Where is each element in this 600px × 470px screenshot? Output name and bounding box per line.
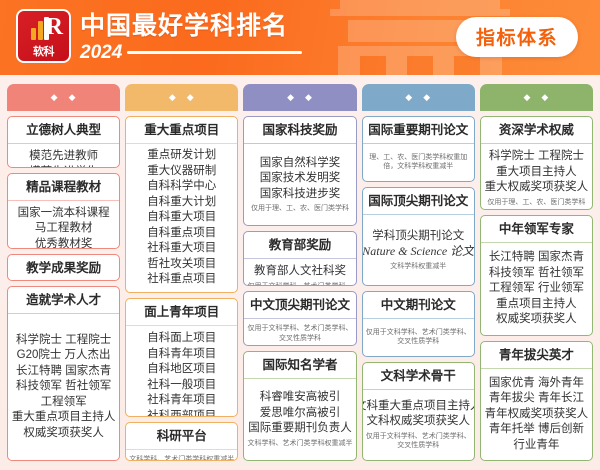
logo-mark-box: R 软科 — [16, 9, 71, 63]
diamond-icon: ◆ — [541, 92, 549, 102]
indicator-group-header: 中文顶尖期刊论文 — [244, 292, 355, 319]
indicator-item: 模范先进学生 — [29, 165, 98, 168]
indicator-group[interactable]: 面上青年项目自科面上项目自科青年项目自科地区项目社科一般项目社科青年项目社科西部… — [125, 298, 238, 417]
indicator-item: 社科西部项目 — [147, 409, 216, 417]
diamond-icon: ◆ — [305, 92, 313, 102]
indicator-group-body: 自科面上项目自科青年项目自科地区项目社科一般项目社科青年项目社科西部项目 — [126, 326, 237, 417]
indicator-item: 社科重点项目 — [147, 272, 216, 288]
title-subline: 2024 — [80, 43, 302, 63]
indicator-group-body: 长江特聘 国家杰青科技领军 哲社领军工程领军 行业领军重点项目主持人权威奖项获奖… — [481, 243, 592, 334]
indicator-group[interactable]: 立德树人典型模范先进教师模范先进学生 — [7, 116, 120, 168]
indicator-group-header: 中文期刊论文 — [363, 292, 474, 319]
indicator-item: 青年拔尖 青年长江 — [489, 391, 584, 407]
indicator-item: 自科重点项目 — [147, 226, 216, 242]
indicator-item: 自科青年项目 — [147, 347, 216, 363]
indicator-item: 长江特聘 国家杰青 — [489, 250, 584, 266]
indicator-item: 青年权威奖项获奖人 — [485, 407, 589, 423]
indicator-item: 教育部人文社科奖 — [254, 264, 346, 280]
diamond-icon: ◆ — [69, 92, 77, 102]
indicator-group[interactable]: 中文期刊论文仅用于文科学科、艺术门类学科、交叉性质学科 — [362, 291, 475, 357]
indicator-group[interactable]: 资深学术权威科学院士 工程院士重大项目主持人重大权威奖项获奖人仅用于理、工、农、… — [480, 116, 593, 210]
indicator-item: 爱思唯尔高被引 — [260, 406, 341, 422]
indicator-item: 自科科学中心 — [147, 179, 216, 195]
indicator-group[interactable]: 精品课程教材国家一流本科课程马工程教材优秀教材奖 — [7, 173, 120, 249]
indicator-item: 自科面上项目 — [147, 331, 216, 347]
indicator-item: 自科重大项目 — [147, 210, 216, 226]
indicator-item: G20院士 万人杰出 — [17, 348, 111, 364]
indicator-group-header: 重大重点项目 — [126, 117, 237, 144]
indicator-item: 重大权威奖项获奖人 — [485, 180, 589, 196]
diamond-icon: ◆ — [287, 92, 295, 102]
indicator-group-body: 模范先进教师模范先进学生 — [8, 144, 119, 168]
indicator-item: 行业青年 — [513, 438, 559, 454]
indicator-footnote: 文科学科、艺术门类学科权重减半 — [247, 439, 354, 449]
indicator-item: 马工程教材 — [35, 221, 93, 237]
indicator-item: 社科一般项目 — [147, 378, 216, 394]
column-title-platform-projects[interactable]: ◆◆ — [125, 84, 238, 111]
indicator-footnote: 文科学科、艺术门类学科权重减半 — [129, 455, 234, 461]
indicator-group-header: 教学成果奖励 — [8, 255, 119, 281]
indicator-group-header: 精品课程教材 — [8, 174, 119, 201]
indicator-item: 国家优青 海外青年 — [489, 376, 584, 392]
indicator-item: 社科重大项目 — [147, 241, 216, 257]
diamond-icon: ◆ — [405, 92, 413, 102]
indicator-item: 工程领军 行业领军 — [489, 281, 584, 297]
indicator-group[interactable]: 国际知名学者科睿唯安高被引爱思唯尔高被引国际重要期刊负责人文科学科、艺术门类学科… — [243, 351, 356, 461]
indicator-group-header: 国家科技奖励 — [244, 117, 355, 144]
column-top-talent: ◆◆资深学术权威科学院士 工程院士重大项目主持人重大权威奖项获奖人仅用于理、工、… — [480, 84, 593, 461]
indicator-item: 科学院士 工程院士 — [16, 333, 111, 349]
diamond-icon: ◆ — [187, 92, 195, 102]
indicator-group[interactable]: 教学成果奖励国家级教学成果奖 — [7, 254, 120, 281]
indicator-group-body: 重点研发计划重大仪器研制自科科学中心自科重大计划自科重大项目自科重点项目社科重大… — [126, 144, 237, 292]
title-block: 中国最好学科排名 2024 — [80, 10, 302, 63]
indicator-item: 重大重点项目主持人 — [12, 410, 116, 426]
indicator-group-header: 教育部奖励 — [244, 232, 355, 259]
indicator-group-header: 国际知名学者 — [244, 352, 355, 379]
indicator-group-body: 科睿唯安高被引爱思唯尔高被引国际重要期刊负责人文科学科、艺术门类学科权重减半 — [244, 379, 355, 460]
page-header: R 软科 中国最好学科排名 2024 指标体系 — [0, 0, 600, 75]
indicator-board: ◆◆立德树人典型模范先进教师模范先进学生精品课程教材国家一流本科课程马工程教材优… — [0, 75, 600, 470]
indicator-group-header: 中年领军专家 — [481, 216, 592, 243]
indicator-group-header: 国际重要期刊论文 — [363, 117, 474, 144]
indicator-group[interactable]: 青年拔尖英才国家优青 海外青年青年拔尖 青年长江青年权威奖项获奖人青年托举 博后… — [480, 341, 593, 461]
indicator-footnote: 仅用于文科学科、艺术门类学科、交叉性质学科 — [365, 328, 472, 347]
title-rule — [127, 51, 302, 55]
indicator-group-body: 仅用于文科学科、艺术门类学科、交叉性质学科 — [363, 319, 474, 356]
column-title-top-talent[interactable]: ◆◆ — [480, 84, 593, 111]
indicator-group-header: 资深学术权威 — [481, 117, 592, 144]
indicator-group-body: 国家一流本科课程马工程教材优秀教材奖 — [8, 201, 119, 249]
indicator-group[interactable]: 国际顶尖期刊论文学科顶尖期刊论文Nature & Science 论文文科学科权… — [362, 187, 475, 286]
indicator-group[interactable]: 国家科技奖励国家自然科学奖国家技术发明奖国家科技进步奖仅用于理、工、农、医门类学… — [243, 116, 356, 226]
indicator-item: 学科顶尖期刊论文 — [372, 229, 464, 245]
indicator-group-body: 理、工、农、医门类学科权重加倍，文科学科权重减半 — [363, 144, 474, 181]
indicator-group[interactable]: 科研平台文科学科、艺术门类学科权重减半 — [125, 422, 238, 461]
indicator-group[interactable]: 造就学术人才科学院士 工程院士G20院士 万人杰出长江特聘 国家杰青科技领军 哲… — [7, 286, 120, 461]
indicator-item: 重点研发计划 — [147, 148, 216, 164]
indicator-footnote: 仅用于文科学科、艺术门类学科、交叉性质学科 — [365, 432, 472, 451]
indicator-item: 自科地区项目 — [147, 362, 216, 378]
indicator-footnote: 仅用于理、工、农、医门类学科 — [486, 198, 586, 208]
edition-year: 2024 — [80, 43, 122, 63]
column-platform-projects: ◆◆重大重点项目重点研发计划重大仪器研制自科科学中心自科重大计划自科重大项目自科… — [125, 84, 238, 461]
indicator-group[interactable]: 中年领军专家长江特聘 国家杰青科技领军 哲社领军工程领军 行业领军重点项目主持人… — [480, 215, 593, 335]
page-root: R 软科 中国最好学科排名 2024 指标体系 ◆◆立德树人典型模范先进教师模范… — [0, 0, 600, 470]
indicator-item: 重大仪器研制 — [147, 164, 216, 180]
indicator-item: 长江特聘 国家杰青 — [16, 364, 111, 380]
indicator-item: 国家一流本科课程 — [18, 206, 110, 222]
column-achievement-awards: ◆◆国家科技奖励国家自然科学奖国家技术发明奖国家科技进步奖仅用于理、工、农、医门… — [243, 84, 356, 461]
indicator-item: 文科权威奖项获奖人 — [366, 414, 470, 430]
diamond-icon: ◆ — [423, 92, 431, 102]
indicator-group-body: 文科重大重点项目主持人文科权威奖项获奖人仅用于文科学科、艺术门类学科、交叉性质学… — [363, 390, 474, 460]
indicator-item: 模范先进教师 — [29, 149, 98, 165]
indicator-group-body: 国家自然科学奖国家技术发明奖国家科技进步奖仅用于理、工、农、医门类学科 — [244, 144, 355, 225]
indicator-item: 权威奖项获奖人 — [23, 426, 104, 442]
indicator-footnote: 仅用于文科学科、艺术门类学科、交叉性质学科 — [246, 324, 353, 343]
indicator-item: 国家科技进步奖 — [260, 187, 341, 203]
indicator-group-header: 造就学术人才 — [8, 287, 119, 314]
indicator-group-header: 国际顶尖期刊论文 — [363, 188, 474, 215]
indicator-group-header: 科研平台 — [126, 423, 237, 450]
indicator-group-header: 青年拔尖英才 — [481, 342, 592, 369]
column-academic-papers: ◆◆国际重要期刊论文理、工、农、医门类学科权重加倍，文科学科权重减半国际顶尖期刊… — [362, 84, 475, 461]
indicator-group-body: 国家优青 海外青年青年拔尖 青年长江青年权威奖项获奖人青年托举 博后创新行业青年 — [481, 369, 592, 460]
indicator-group[interactable]: 中文顶尖期刊论文仅用于文科学科、艺术门类学科、交叉性质学科 — [243, 291, 356, 346]
column-title-academic-papers[interactable]: ◆◆ — [362, 84, 475, 111]
status-badge: 指标体系 — [456, 17, 578, 57]
indicator-item: 文科重大重点项目主持人 — [362, 399, 475, 415]
indicator-footnote: 理、工、农、医门类学科权重加倍，文科学科权重减半 — [365, 153, 472, 172]
indicator-group-body: 教育部人文社科奖仅用于文科学科、艺术门类学科、交叉性质学科 — [244, 259, 355, 286]
indicator-item: 重点项目主持人 — [496, 297, 577, 313]
indicator-group[interactable]: 文科学术骨干文科重大重点项目主持人文科权威奖项获奖人仅用于文科学科、艺术门类学科… — [362, 362, 475, 461]
column-title-achievement-awards[interactable]: ◆◆ — [243, 84, 356, 111]
indicator-item: 青年托举 博后创新 — [489, 422, 584, 438]
diamond-icon: ◆ — [523, 92, 531, 102]
indicator-item: 国家自然科学奖 — [260, 156, 341, 172]
brand-logo: R 软科 中国最好学科排名 2024 — [16, 9, 302, 63]
indicator-group-body: 文科学科、艺术门类学科权重减半 — [126, 450, 237, 461]
indicator-group-body: 学科顶尖期刊论文Nature & Science 论文文科学科权重减半 — [363, 215, 474, 285]
indicator-footnote: 文科学科权重减半 — [389, 262, 447, 272]
indicator-item: 重大项目主持人 — [496, 165, 577, 181]
indicator-group[interactable]: 国际重要期刊论文理、工、农、医门类学科权重加倍，文科学科权重减半 — [362, 116, 475, 182]
logo-brand-name: 软科 — [18, 43, 69, 59]
indicator-item: 科技领军 哲社领军 — [489, 266, 584, 282]
indicator-item: Nature & Science 论文 — [362, 244, 474, 260]
indicator-item: 国家技术发明奖 — [260, 171, 341, 187]
diamond-icon: ◆ — [169, 92, 177, 102]
logo-letter: R — [46, 15, 63, 39]
indicator-group-body: 科学院士 工程院士G20院士 万人杰出长江特聘 国家杰青科技领军 哲社领军工程领… — [8, 314, 119, 460]
indicator-item: 自科重大计划 — [147, 195, 216, 211]
indicator-item: 优秀教材奖 — [35, 237, 93, 249]
indicator-item: 哲社攻关项目 — [147, 257, 216, 273]
column-talent-cultivation: ◆◆立德树人典型模范先进教师模范先进学生精品课程教材国家一流本科课程马工程教材优… — [7, 84, 120, 461]
indicator-group-header: 面上青年项目 — [126, 299, 237, 326]
indicator-group-body: 科学院士 工程院士重大项目主持人重大权威奖项获奖人仅用于理、工、农、医门类学科 — [481, 144, 592, 210]
indicator-group-header: 立德树人典型 — [8, 117, 119, 144]
diamond-icon: ◆ — [51, 92, 59, 102]
indicator-item: 权威奖项获奖人 — [496, 312, 577, 328]
indicator-footnote: 仅用于理、工、农、医门类学科 — [250, 204, 350, 214]
indicator-item: 科学院士 工程院士 — [489, 149, 584, 165]
indicator-item: 工程领军 — [41, 395, 87, 411]
page-title: 中国最好学科排名 — [80, 12, 302, 41]
indicator-item: 科睿唯安高被引 — [260, 390, 341, 406]
indicator-group[interactable]: 重大重点项目重点研发计划重大仪器研制自科科学中心自科重大计划自科重大项目自科重点… — [125, 116, 238, 293]
indicator-item: 科技领军 哲社领军 — [16, 379, 111, 395]
indicator-item: 社科青年项目 — [147, 393, 216, 409]
indicator-item: 国际重要期刊负责人 — [248, 421, 352, 437]
indicator-group[interactable]: 教育部奖励教育部人文社科奖仅用于文科学科、艺术门类学科、交叉性质学科 — [243, 231, 356, 286]
indicator-footnote: 仅用于文科学科、艺术门类学科、交叉性质学科 — [246, 282, 353, 286]
indicator-group-body: 仅用于文科学科、艺术门类学科、交叉性质学科 — [244, 319, 355, 346]
indicator-group-header: 文科学术骨干 — [363, 363, 474, 390]
column-title-talent-cultivation[interactable]: ◆◆ — [7, 84, 120, 111]
